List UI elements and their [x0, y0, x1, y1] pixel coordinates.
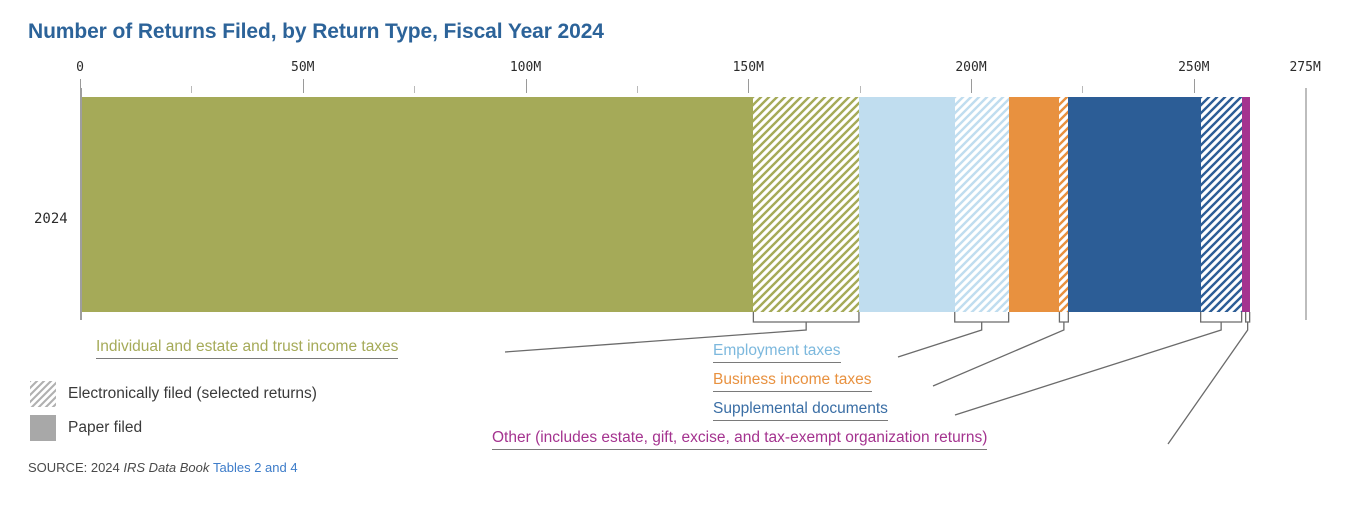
- leader-line: [1201, 312, 1242, 322]
- callout-other-returns[interactable]: Other (includes estate, gift, excise, an…: [492, 430, 987, 450]
- callout-business-income-taxes[interactable]: Business income taxes: [713, 372, 872, 392]
- x-tick-label-50M: 50M: [291, 60, 314, 75]
- x-minor-tick: [860, 86, 861, 93]
- bar-segment-6[interactable]: [1068, 97, 1200, 312]
- legend-swatch-solid: [30, 415, 56, 441]
- bar-segment-0[interactable]: [82, 97, 753, 312]
- callout-employment-taxes[interactable]: Employment taxes: [713, 343, 841, 363]
- x-minor-tick: [1082, 86, 1083, 93]
- x-tick-label-250M: 250M: [1178, 60, 1209, 75]
- bar-segment-1[interactable]: [753, 97, 859, 312]
- x-minor-tick: [637, 86, 638, 93]
- x-axis-end-line: [1305, 88, 1307, 320]
- callout-individual-and-estate-and-trust-income-taxes[interactable]: Individual and estate and trust income t…: [96, 339, 398, 359]
- leader-line: [753, 312, 859, 322]
- callout-label: Supplemental documents: [713, 400, 888, 417]
- leader-line: [1246, 312, 1250, 322]
- leader-line: [1168, 322, 1248, 444]
- x-tick-label-200M: 200M: [955, 60, 986, 75]
- leader-line: [955, 322, 1221, 415]
- chart-container: Number of Returns Filed, by Return Type,…: [0, 0, 1352, 518]
- leader-line: [1059, 312, 1068, 322]
- x-tick-100M: [526, 79, 527, 93]
- x-tick-label-275M: 275M: [1289, 60, 1320, 75]
- source-prefix: SOURCE: 2024: [28, 460, 123, 475]
- x-minor-tick: [191, 86, 192, 93]
- legend-swatch-hatched: [30, 381, 56, 407]
- x-minor-tick: [414, 86, 415, 93]
- x-tick-200M: [971, 79, 972, 93]
- x-tick-50M: [303, 79, 304, 93]
- bar-segment-5[interactable]: [1059, 97, 1068, 312]
- source-link[interactable]: Tables 2 and 4: [213, 460, 298, 475]
- bar-segment-3[interactable]: [955, 97, 1009, 312]
- bar-segment-7[interactable]: [1201, 97, 1242, 312]
- callout-supplemental-documents[interactable]: Supplemental documents: [713, 401, 888, 421]
- callout-label: Employment taxes: [713, 342, 841, 359]
- chart-title: Number of Returns Filed, by Return Type,…: [28, 20, 604, 44]
- source-publication: IRS Data Book: [123, 460, 209, 475]
- callout-label: Individual and estate and trust income t…: [96, 338, 398, 355]
- leader-line: [933, 322, 1064, 386]
- y-axis-category-label: 2024: [34, 211, 68, 227]
- callout-label: Other (includes estate, gift, excise, an…: [492, 429, 987, 446]
- legend-label: Electronically filed (selected returns): [68, 385, 317, 403]
- x-tick-150M: [748, 79, 749, 93]
- x-tick-label-100M: 100M: [510, 60, 541, 75]
- x-tick-label-0: 0: [76, 60, 84, 75]
- x-tick-250M: [1194, 79, 1195, 93]
- bar-segment-2[interactable]: [859, 97, 955, 312]
- x-tick-label-150M: 150M: [733, 60, 764, 75]
- legend-item-paper-filed[interactable]: Paper filed: [30, 415, 142, 441]
- leader-line: [955, 312, 1009, 322]
- bar-segment-4[interactable]: [1009, 97, 1060, 312]
- callout-label: Business income taxes: [713, 371, 872, 388]
- legend-label: Paper filed: [68, 419, 142, 437]
- legend-item-electronically-filed[interactable]: Electronically filed (selected returns): [30, 381, 317, 407]
- bar-segment-8[interactable]: [1242, 97, 1250, 312]
- leader-line: [898, 322, 982, 357]
- source-note: SOURCE: 2024 IRS Data Book Tables 2 and …: [28, 460, 298, 475]
